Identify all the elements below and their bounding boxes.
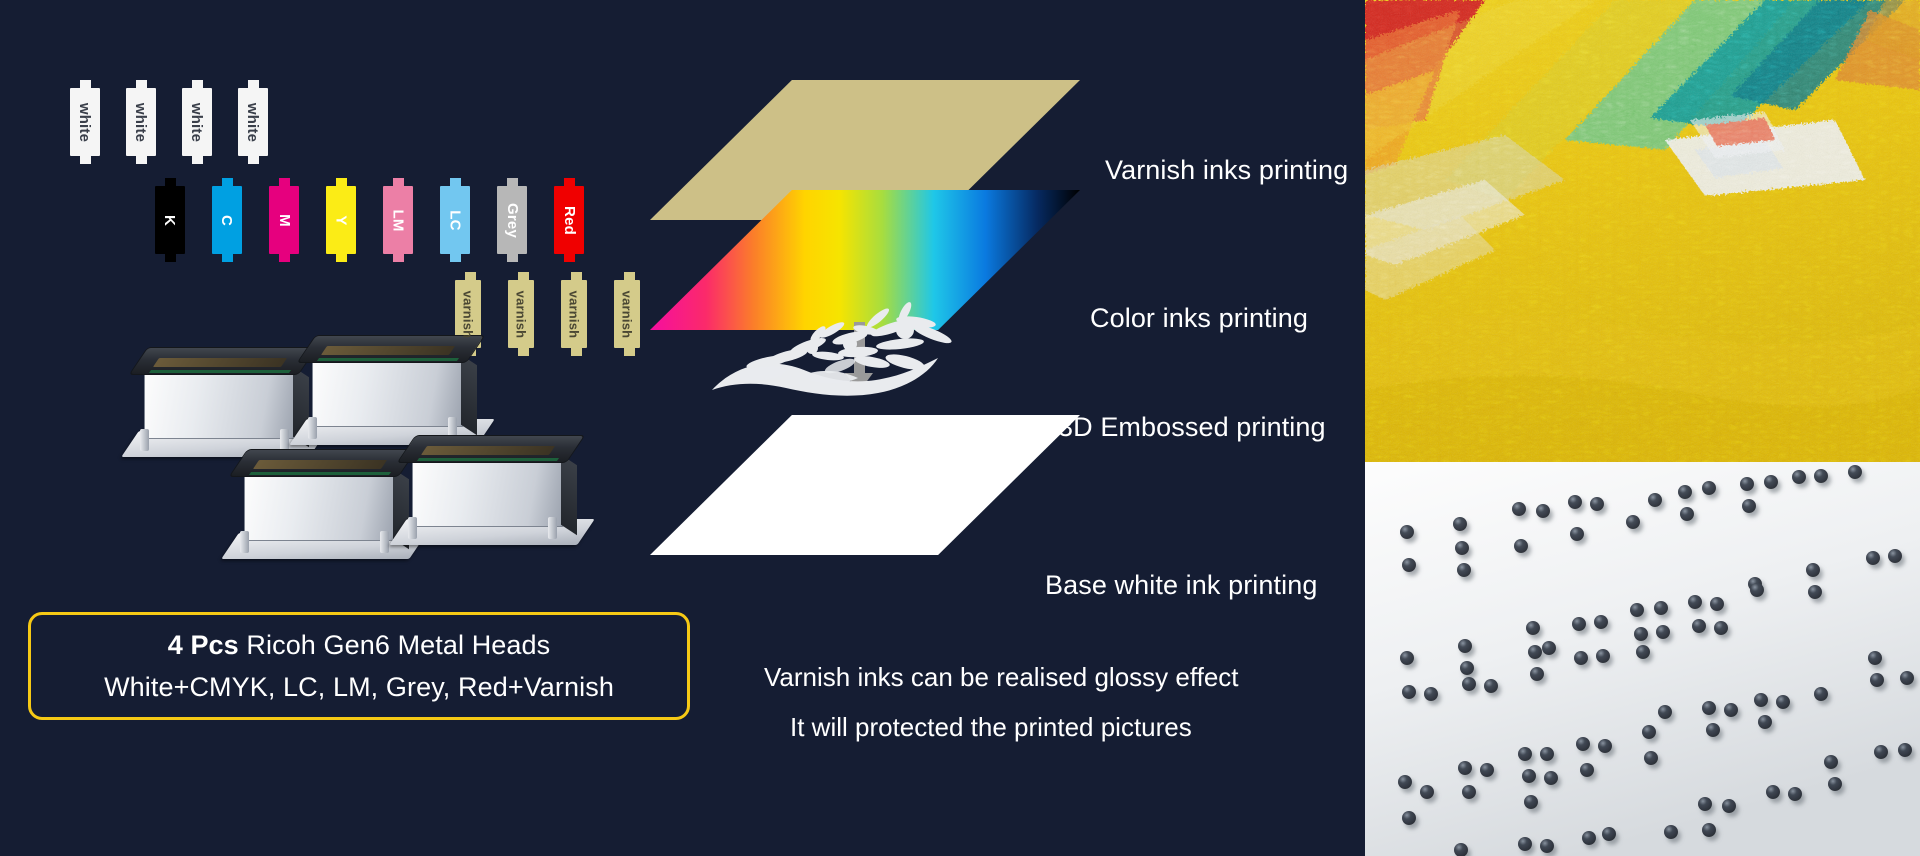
cartridge-label: M: [275, 214, 292, 227]
cartridge-label: C: [218, 214, 235, 225]
caption-line-2: It will protected the printed pictures: [790, 712, 1192, 743]
cartridge-label: K: [161, 214, 178, 225]
cartridge-row-white: white white white white: [70, 80, 294, 164]
photo-braille-embossed-print: [1365, 462, 1920, 856]
layer-label-varnish: Varnish inks printing: [1105, 155, 1348, 186]
photo-panel: [1365, 0, 1920, 856]
cartridge-label: varnish: [567, 290, 582, 338]
layer-label-color: Color inks printing: [1090, 303, 1308, 334]
promo-graphic: white white white white: [0, 0, 1920, 856]
cartridge-label: white: [245, 102, 262, 141]
ink-cartridge-y: Y: [326, 178, 356, 262]
layer-label-base-white: Base white ink printing: [1045, 570, 1317, 601]
cartridge-label: LC: [447, 210, 464, 230]
cartridge-label: white: [133, 102, 150, 141]
specs-head-model: Ricoh Gen6 Metal Heads: [239, 630, 550, 660]
cartridge-label: white: [77, 102, 94, 141]
cartridge-label: white: [189, 102, 206, 141]
caption-line-1: Varnish inks can be realised glossy effe…: [764, 662, 1239, 693]
specs-quantity: 4 Pcs: [168, 630, 239, 660]
floral-relief-icon: [700, 300, 1000, 420]
cartridge-label: Red: [561, 206, 578, 235]
ink-cartridge-grey: Grey: [497, 178, 527, 262]
printhead-group: [130, 325, 560, 575]
specs-line-1: 4 Pcs Ricoh Gen6 Metal Heads: [168, 630, 551, 661]
layer-base-white: [650, 415, 1080, 555]
ink-cartridge-white-3: white: [182, 80, 212, 164]
ink-cartridge-lc: LC: [440, 178, 470, 262]
cartridge-label: Grey: [504, 203, 521, 238]
printing-layers-diagram: [640, 60, 1340, 620]
cartridge-label: varnish: [514, 290, 529, 338]
ink-cartridge-white-1: white: [70, 80, 100, 164]
photo-textured-color-print: [1365, 0, 1920, 462]
ink-cartridge-red: Red: [554, 178, 584, 262]
ink-cartridge-white-4: white: [238, 80, 268, 164]
ink-cartridge-lm: LM: [383, 178, 413, 262]
ink-cartridge-m: M: [269, 178, 299, 262]
specs-line-2: White+CMYK, LC, LM, Grey, Red+Varnish: [104, 672, 614, 703]
cartridge-label: varnish: [461, 290, 476, 338]
ink-cartridge-varnish-4: varnish: [614, 272, 640, 356]
layer-label-emboss: 3D Embossed printing: [1058, 412, 1326, 443]
ink-cartridge-c: C: [212, 178, 242, 262]
cartridge-row-color: K C M Y: [155, 178, 611, 262]
ricoh-gen6-printhead-4: [398, 413, 598, 545]
ink-cartridge-varnish-3: varnish: [561, 272, 587, 356]
ink-cartridge-white-2: white: [126, 80, 156, 164]
ink-cartridge-k: K: [155, 178, 185, 262]
cartridge-label: varnish: [620, 290, 635, 338]
cartridge-label: LM: [390, 209, 407, 231]
specs-callout-box: 4 Pcs Ricoh Gen6 Metal Heads White+CMYK,…: [28, 612, 690, 720]
cartridge-label: Y: [333, 215, 350, 225]
